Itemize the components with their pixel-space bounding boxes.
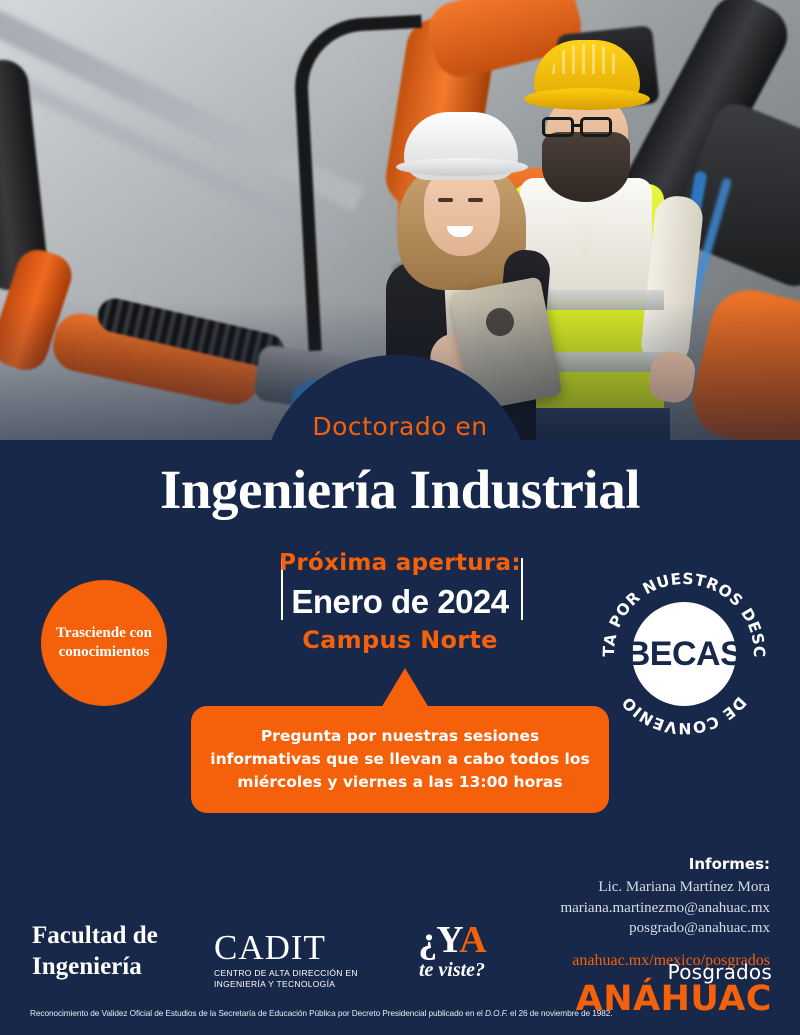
te-viste-text: te viste?: [392, 959, 512, 982]
trasciende-badge: Trasciende con conocimientos: [41, 580, 167, 706]
ya-te-viste-logo: ¿YA te viste?: [392, 922, 512, 982]
cadit-subtitle: CENTRO DE ALTA DIRECCIÓN EN INGENIERÍA Y…: [214, 968, 358, 989]
cadit-logo: CADIT CENTRO DE ALTA DIRECCIÓN EN INGENI…: [214, 930, 358, 989]
trasciende-line1: Trasciende con: [56, 625, 152, 641]
becas-seal: PREGUNTA POR NUESTROS DESCUENTOS DE CONV…: [598, 568, 770, 740]
legal-disclaimer: Reconocimiento de Validez Oficial de Est…: [30, 1008, 612, 1018]
program-kicker: Doctorado en: [0, 412, 800, 441]
program-title: Ingeniería Industrial: [0, 458, 800, 521]
contact-email-primary[interactable]: mariana.martinezmo@anahuac.mx: [350, 898, 770, 919]
contact-name: Lic. Mariana Martínez Mora: [350, 877, 770, 898]
faculty-line1: Facultad de: [32, 920, 158, 951]
info-sessions-bubble: Pregunta por nuestras sesiones informati…: [191, 706, 609, 813]
disclaimer-dof: D.O.F.: [485, 1008, 508, 1018]
informes-title: Informes:: [350, 855, 770, 873]
bubble-pointer: [381, 668, 429, 708]
faculty-line2: Ingeniería: [32, 951, 158, 982]
ya-row: ¿YA: [392, 922, 512, 958]
ya-prefix: ¿Y: [418, 919, 459, 961]
cadit-subtitle-line2: INGENIERÍA Y TECNOLOGÍA: [214, 979, 358, 990]
ya-suffix: A: [459, 919, 485, 961]
cadit-wordmark: CADIT: [214, 930, 358, 965]
becas-center-label: BECAS: [626, 635, 743, 673]
disclaimer-part2: el 26 de noviembre de 1982.: [508, 1008, 613, 1018]
faculty-logo: Facultad de Ingeniería: [32, 920, 158, 983]
trasciende-line2: conocimientos: [59, 644, 150, 660]
poster-root: Doctorado en Ingeniería Industrial Próxi…: [0, 0, 800, 1035]
cadit-subtitle-line1: CENTRO DE ALTA DIRECCIÓN EN: [214, 968, 358, 979]
disclaimer-part1: Reconocimiento de Validez Oficial de Est…: [30, 1008, 485, 1018]
